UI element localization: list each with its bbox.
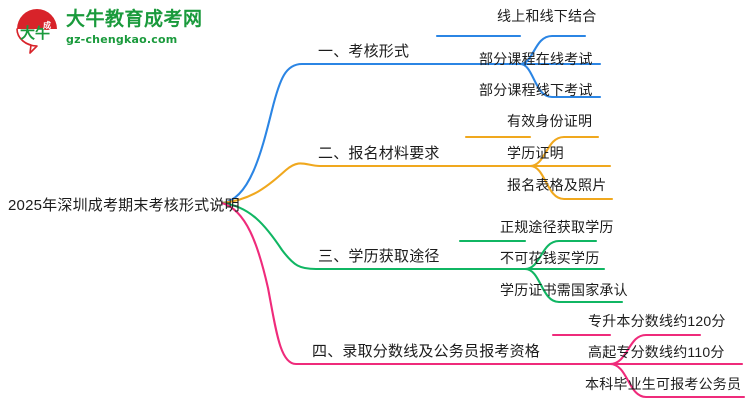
logo-text-block: 大牛教育成考网 gz-chengkao.com: [66, 9, 203, 47]
leaf-node-2-2[interactable]: 学历证明: [507, 143, 564, 163]
logo-site-name: 大牛教育成考网: [66, 9, 203, 31]
leaf-node-3-1[interactable]: 正规途径获取学历: [500, 217, 614, 237]
leaf-node-4-1[interactable]: 专升本分数线约120分: [588, 311, 726, 331]
leaf-node-1-2[interactable]: 部分课程在线考试: [479, 49, 593, 69]
leaf-node-1-3[interactable]: 部分课程线下考试: [479, 80, 593, 100]
logo-domain: gz-chengkao.com: [66, 33, 203, 47]
leaf-node-3-2[interactable]: 不可花钱买学历: [500, 248, 599, 268]
leaf-node-4-3[interactable]: 本科毕业生可报考公务员: [585, 374, 741, 394]
leaf-node-3-3[interactable]: 学历证书需国家承认: [500, 280, 628, 300]
branch-node-4[interactable]: 四、录取分数线及公务员报考资格: [312, 340, 540, 361]
branch-node-2[interactable]: 二、报名材料要求: [318, 142, 440, 163]
root-to-branch-1-line: [222, 64, 520, 203]
mindmap-root-node[interactable]: 2025年深圳成考期末考核形式说明: [8, 194, 240, 215]
mindmap-canvas: 大牛 成 大牛教育成考网 gz-chengkao.com 2025年深圳成考期末…: [0, 0, 750, 410]
root-to-branch-2-line: [222, 163, 530, 203]
site-logo[interactable]: 大牛 成 大牛教育成考网 gz-chengkao.com: [14, 6, 194, 58]
branch-node-1[interactable]: 一、考核形式: [318, 40, 409, 61]
leaf-node-2-3[interactable]: 报名表格及照片: [507, 175, 606, 195]
leaf-node-1-1[interactable]: 线上和线下结合: [497, 6, 596, 26]
logo-mark-icon: 大牛 成: [14, 8, 60, 54]
svg-text:成: 成: [43, 20, 51, 30]
branch-node-3[interactable]: 三、学历获取途径: [318, 245, 440, 266]
leaf-node-4-2[interactable]: 高起专分数线约110分: [588, 342, 725, 362]
leaf-node-2-1[interactable]: 有效身份证明: [507, 111, 592, 131]
